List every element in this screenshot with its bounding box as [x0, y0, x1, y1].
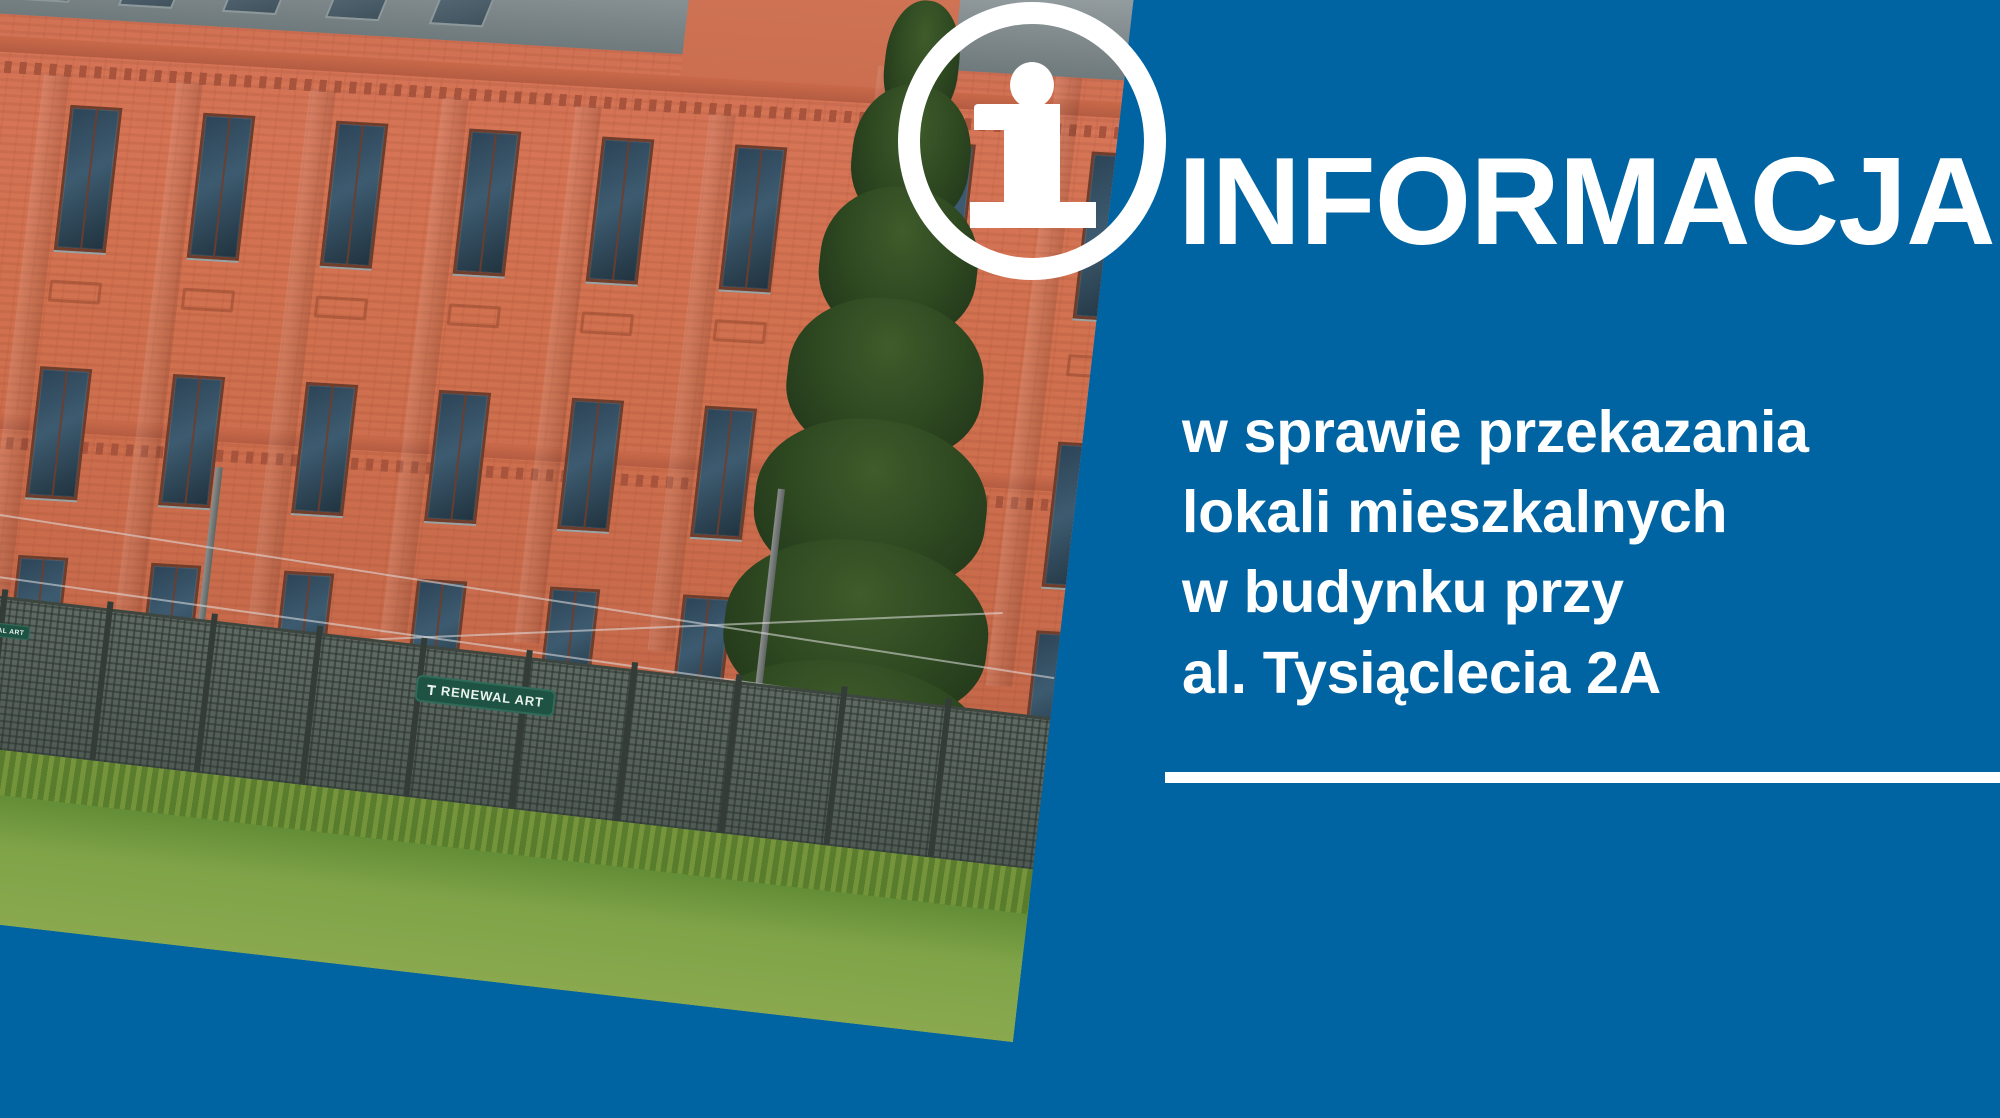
renewal-art-logo-icon: [426, 685, 436, 696]
roof-skylight: [428, 0, 506, 27]
page-title: INFORMACJA: [1178, 140, 1995, 264]
subtitle-line: w sprawie przekazania: [1182, 392, 1809, 472]
subtitle-line: w budynku przy: [1182, 552, 1809, 632]
facade-panel: [579, 311, 634, 336]
fence-sign-label: RENEWAL ART: [0, 623, 25, 637]
roof-skylight: [325, 0, 403, 21]
facade-panel: [47, 279, 102, 304]
facade-panel: [180, 287, 235, 312]
info-icon-stem: [1004, 104, 1060, 228]
roof-skylight: [221, 0, 299, 15]
facade-panel: [1066, 355, 1131, 381]
roof-skylight: [14, 0, 92, 2]
info-icon-dot: [1010, 62, 1054, 108]
info-circle-icon: [898, 2, 1166, 280]
subtitle-line: al. Tysiąclecia 2A: [1182, 633, 1809, 713]
horizontal-rule: [1165, 772, 2000, 783]
roof-skylight: [118, 0, 196, 9]
fence-sign-label: RENEWAL ART: [440, 684, 544, 711]
facade-panel: [313, 295, 368, 320]
fence-sign: RENEWAL ART: [415, 675, 557, 718]
facade-panel: [446, 303, 501, 328]
information-banner: RENEWAL ART RENEWAL ART INFORMACJA w spr…: [0, 0, 2000, 1118]
subtitle-block: w sprawie przekazania lokali mieszkalnyc…: [1182, 392, 1809, 713]
fence-sign: RENEWAL ART: [0, 618, 31, 640]
subtitle-line: lokali mieszkalnych: [1182, 472, 1809, 552]
